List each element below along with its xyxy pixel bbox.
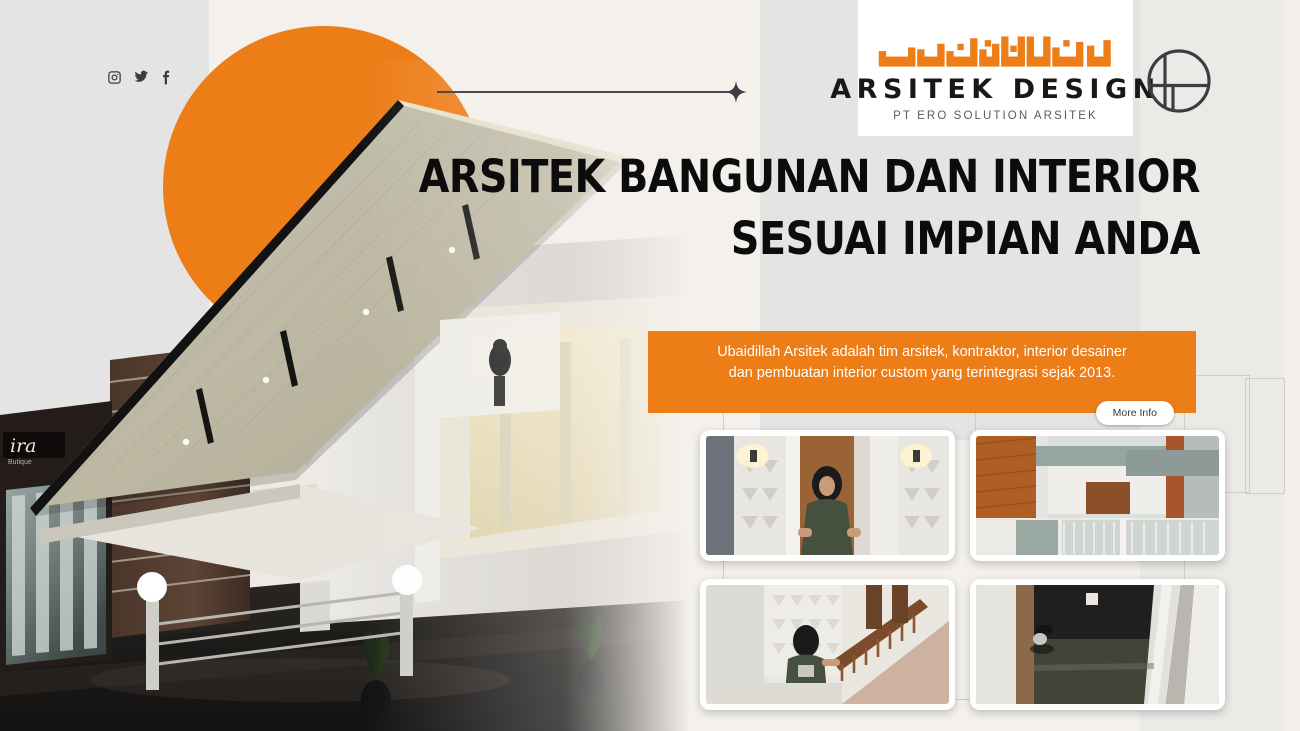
- decorative-outline-rect: [1245, 378, 1285, 494]
- project-gallery: [700, 430, 1220, 715]
- thumb-interior-staircase[interactable]: [700, 579, 955, 710]
- headline-line-1: ARSITEK BANGUNAN DAN INTERIOR: [364, 146, 1200, 208]
- poster-stage: ira Butique: [0, 0, 1300, 731]
- background-panel-far-right: [1284, 0, 1300, 731]
- thumb-interior-3d-panel-wall[interactable]: [700, 430, 955, 561]
- thumb-image: [706, 436, 949, 555]
- page-title: ARSITEK BANGUNAN DAN INTERIOR SESUAI IMP…: [250, 146, 1200, 270]
- four-point-star-icon: [725, 81, 747, 103]
- description-line-1: Ubaidillah Arsitek adalah tim arsitek, k…: [674, 342, 1170, 363]
- thumb-interior-dark-corridor[interactable]: [970, 579, 1225, 710]
- facebook-icon[interactable]: [161, 70, 171, 85]
- description-panel: Ubaidillah Arsitek adalah tim arsitek, k…: [648, 331, 1196, 413]
- thumb-interior-lobby-wood[interactable]: [970, 430, 1225, 561]
- circle-architectural-mark-icon: [1146, 48, 1212, 114]
- ubaidillah-script-wordmark: [877, 31, 1114, 73]
- social-links[interactable]: [107, 70, 171, 85]
- divider-line: [437, 91, 735, 93]
- instagram-icon[interactable]: [107, 70, 122, 85]
- svg-text:ira: ira: [10, 435, 37, 457]
- twitter-icon[interactable]: [133, 70, 150, 85]
- divider-with-diamond: [437, 81, 757, 103]
- svg-text:Butique: Butique: [8, 459, 32, 466]
- logo-name-line: ARSITEK DESIGN: [830, 76, 1160, 103]
- description-line-2: dan pembuatan interior custom yang terin…: [674, 363, 1170, 384]
- thumb-image: [706, 585, 949, 704]
- more-info-button[interactable]: More Info: [1096, 401, 1174, 425]
- brand-logo-card[interactable]: ARSITEK DESIGN PT ERO SOLUTION ARSITEK: [858, 0, 1133, 136]
- logo-company-line: PT ERO SOLUTION ARSITEK: [893, 110, 1098, 122]
- thumb-image: [976, 585, 1219, 704]
- thumb-image: [976, 436, 1219, 555]
- headline-line-2: SESUAI IMPIAN ANDA: [364, 208, 1200, 270]
